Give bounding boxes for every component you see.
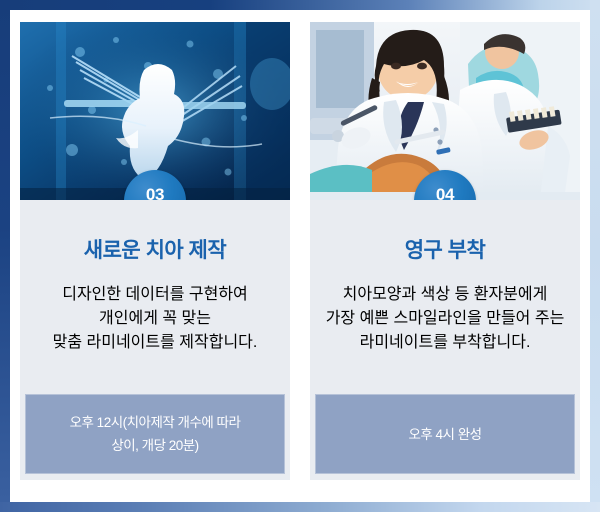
step-title-03: 새로운 치아 제작	[30, 238, 280, 264]
step-card-03[interactable]: 03 STEP 새로운 치아 제작 디자인한 데이터를 구현하여 개인에게 꼭 …	[20, 22, 290, 480]
description-line: 개인에게 꼭 맞는	[30, 304, 280, 328]
step-photo-04: 04 STEP	[310, 22, 580, 200]
step-footer-04: 오후 4시 완성	[315, 394, 575, 474]
step-card-04[interactable]: 04 STEP 영구 부착 치아모양과 색상 등 환자분에게 가장 예쁜 스마일…	[310, 22, 580, 480]
description-line: 가장 예쁜 스마일라인을 만들어 주는	[320, 304, 570, 328]
frame-band-bottom	[0, 502, 600, 512]
frame-band-top	[0, 0, 600, 10]
description-line: 치아모양과 색상 등 환자분에게	[320, 280, 570, 304]
step-badge-number: 03	[146, 186, 164, 201]
footer-line: 상이, 개당 20분)	[111, 434, 198, 457]
step-cards-page: 03 STEP 새로운 치아 제작 디자인한 데이터를 구현하여 개인에게 꼭 …	[0, 0, 600, 512]
step-body-04: 영구 부착 치아모양과 색상 등 환자분에게 가장 예쁜 스마일라인을 만들어 …	[310, 200, 580, 394]
cards-container: 03 STEP 새로운 치아 제작 디자인한 데이터를 구현하여 개인에게 꼭 …	[10, 10, 590, 502]
step-title-04: 영구 부착	[320, 238, 570, 264]
step-photo-03: 03 STEP	[20, 22, 290, 200]
footer-line: 오후 4시 완성	[408, 423, 481, 446]
frame-band-right	[590, 0, 600, 502]
description-line: 라미네이트를 부착합니다.	[320, 328, 570, 352]
step-footer-03: 오후 12시(치아제작 개수에 따라 상이, 개당 20분)	[25, 394, 285, 474]
description-line: 디자인한 데이터를 구현하여	[30, 280, 280, 304]
footer-line: 오후 12시(치아제작 개수에 따라	[70, 411, 241, 434]
step-badge-number: 04	[436, 186, 454, 201]
frame-band-left	[0, 0, 10, 502]
description-line: 맞춤 라미네이트를 제작합니다.	[30, 328, 280, 352]
step-body-03: 새로운 치아 제작 디자인한 데이터를 구현하여 개인에게 꼭 맞는 맞춤 라미…	[20, 200, 290, 394]
